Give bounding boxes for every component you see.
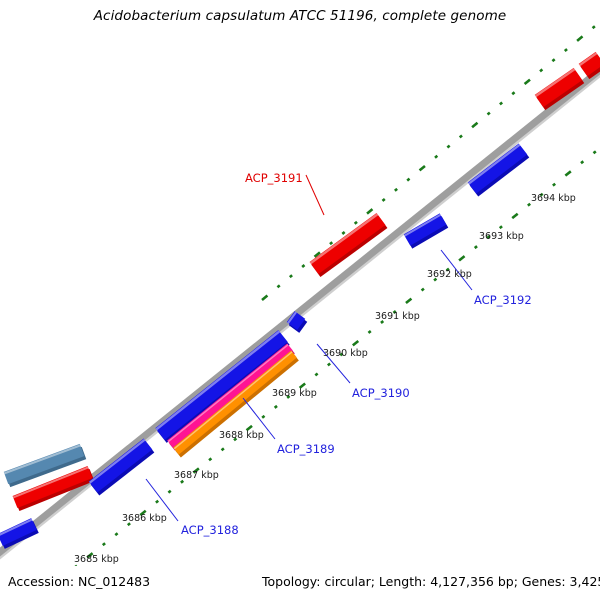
feature-red-acp3191[interactable] <box>310 213 388 277</box>
leader-line-acp_3191 <box>306 175 324 215</box>
ruler-tick-3690: 3690 kbp <box>323 348 368 359</box>
genome-stats-text: Topology: circular; Length: 4,127,356 bp… <box>262 574 600 589</box>
gene-label-acp_3190[interactable]: ACP_3190 <box>352 386 410 400</box>
ruler-tick-3691: 3691 kbp <box>375 311 420 322</box>
feature-magenta-highlight <box>168 345 288 442</box>
ruler-tick-3685: 3685 kbp <box>74 554 119 565</box>
feature-blue-acp3189[interactable] <box>155 330 289 443</box>
feature-blue-bottomleft[interactable] <box>0 518 39 549</box>
ruler-tick-3694: 3694 kbp <box>531 193 576 204</box>
ruler-tick-3688: 3688 kbp <box>219 430 264 441</box>
genome-map-canvas[interactable]: 3685 kbp3686 kbp3687 kbp3688 kbp3689 kbp… <box>0 0 600 566</box>
ruler-tick-3692: 3692 kbp <box>427 269 472 280</box>
ruler-tick-3687: 3687 kbp <box>174 470 219 481</box>
status-bar: Accession: NC_012483 Topology: circular;… <box>0 566 600 600</box>
ruler-tick-3689: 3689 kbp <box>272 388 317 399</box>
feature-blue-acp3188-body[interactable] <box>89 438 153 492</box>
gridline-lower <box>34 148 600 566</box>
gene-label-acp_3188[interactable]: ACP_3188 <box>181 523 239 537</box>
gene-label-acp_3192[interactable]: ACP_3192 <box>474 293 532 307</box>
gene-label-acp_3191[interactable]: ACP_3191 <box>245 171 303 185</box>
genome-map-svg[interactable] <box>0 0 600 566</box>
gene-label-acp_3189[interactable]: ACP_3189 <box>277 442 335 456</box>
genome-viewer: Acidobacterium capsulatum ATCC 51196, co… <box>0 0 600 600</box>
feature-red-acp3191-body[interactable] <box>310 213 386 274</box>
genome-backbone <box>0 62 600 563</box>
feature-blue-acp3188[interactable] <box>89 438 155 495</box>
ruler-tick-3693: 3693 kbp <box>479 231 524 242</box>
ruler-tick-3686: 3686 kbp <box>122 513 167 524</box>
accession-text: Accession: NC_012483 <box>8 574 150 589</box>
gridline-upper <box>262 22 600 300</box>
